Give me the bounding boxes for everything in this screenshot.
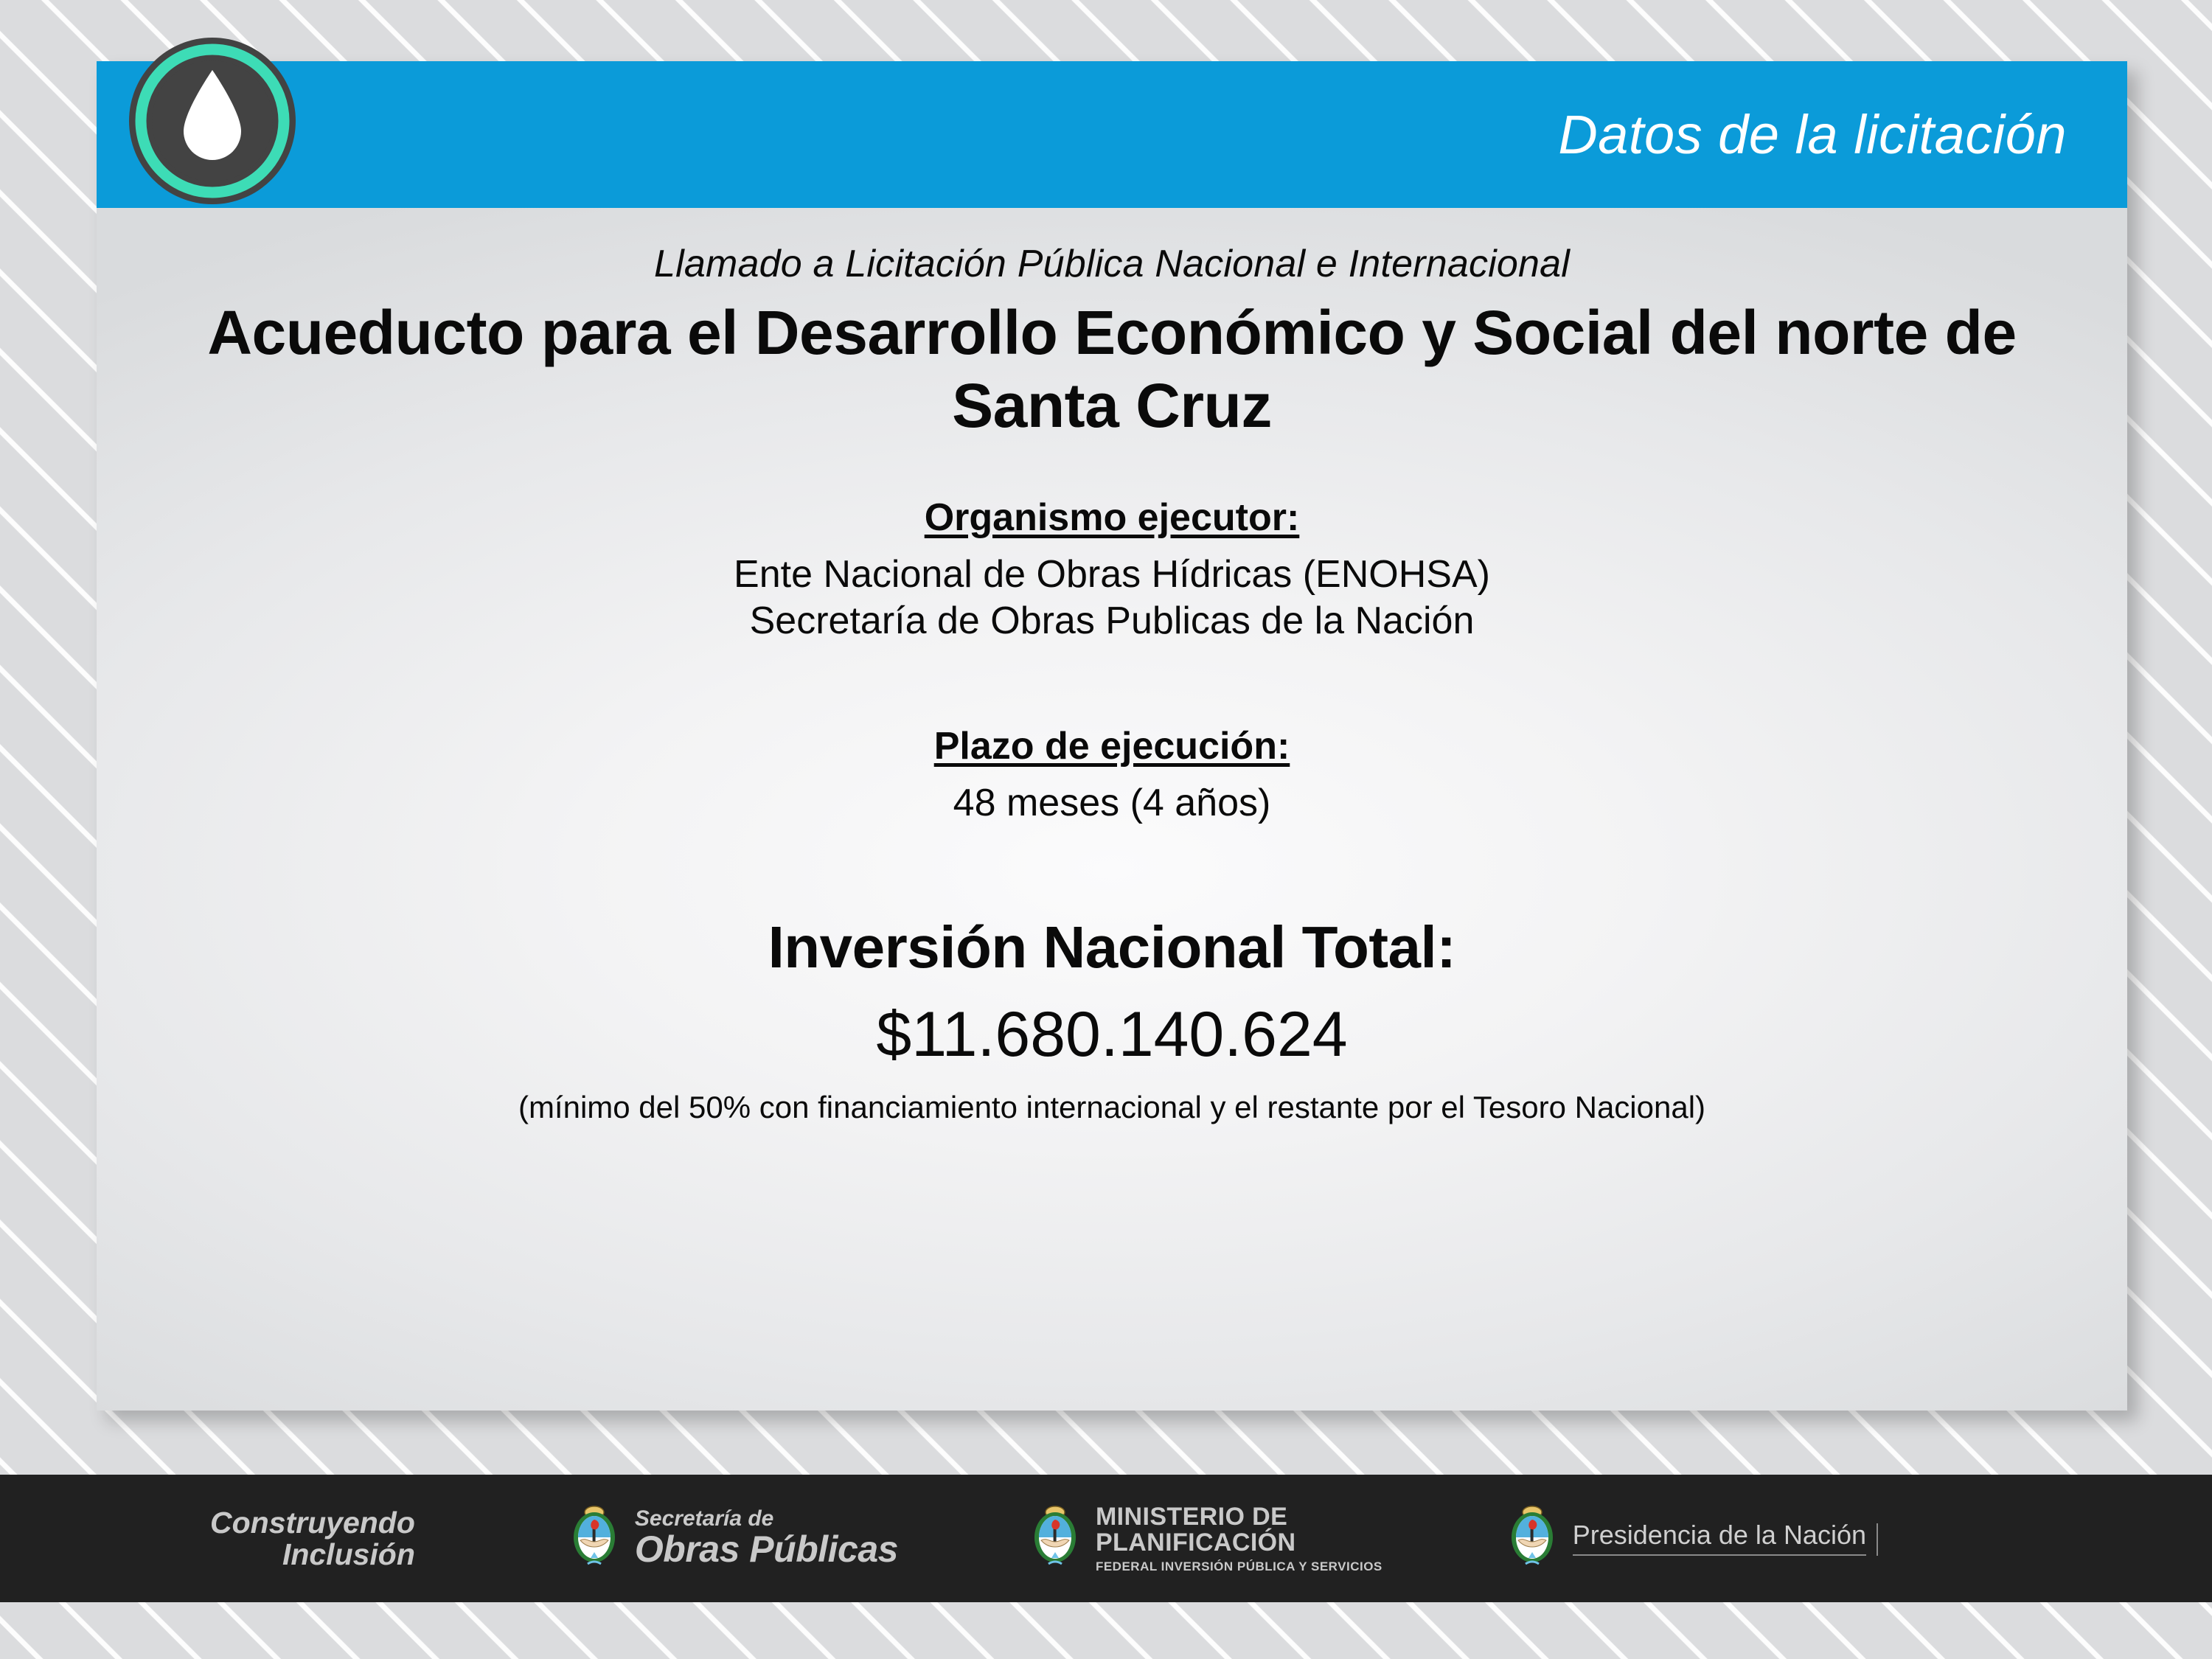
slide-subtitle: Llamado a Licitación Pública Nacional e … [97, 242, 2127, 286]
plazo-ejecucion-block: Plazo de ejecución: 48 meses (4 años) [97, 724, 2127, 827]
planificacion-line-2: PLANIFICACIÓN [1096, 1530, 1382, 1556]
construyendo-inclusion-logo: Construyendo Inclusión [210, 1475, 415, 1602]
slide-content-panel: Llamado a Licitación Pública Nacional e … [97, 208, 2127, 1411]
organismo-ejecutor-block: Organismo ejecutor: Ente Nacional de Obr… [97, 495, 2127, 645]
header-bar: Datos de la licitación [97, 61, 2127, 208]
argentina-coat-of-arms-icon [1508, 1502, 1557, 1576]
obras-line-1: Secretaría de [635, 1508, 898, 1531]
planificacion-line-1: MINISTERIO DE [1096, 1504, 1382, 1530]
presidencia-tick [1877, 1523, 1878, 1556]
ministerio-planificacion-logo: MINISTERIO DE PLANIFICACIÓN FEDERAL INVE… [1031, 1475, 1382, 1602]
plazo-line-1: 48 meses (4 años) [97, 780, 2127, 827]
planificacion-line-3: FEDERAL INVERSIÓN PÚBLICA Y SERVICIOS [1096, 1560, 1382, 1573]
presidencia-line-1: Presidencia de la Nación [1573, 1521, 1866, 1556]
obras-line-2: Obras Públicas [635, 1531, 898, 1569]
page-title: Acueducto para el Desarrollo Económico y… [185, 296, 2039, 442]
footer-bar: Construyendo Inclusión Secretaría de Obr… [0, 1475, 2212, 1602]
inversion-amount: $11.680.140.624 [97, 998, 2127, 1071]
organismo-heading: Organismo ejecutor: [97, 495, 2127, 540]
plazo-heading: Plazo de ejecución: [97, 724, 2127, 768]
header-title: Datos de la licitación [1558, 108, 2067, 162]
organismo-line-2: Secretaría de Obras Publicas de la Nació… [97, 598, 2127, 644]
secretaria-obras-publicas-logo: Secretaría de Obras Públicas [570, 1475, 898, 1602]
inversion-heading: Inversión Nacional Total: [97, 914, 2127, 981]
inversion-note: (mínimo del 50% con financiamiento inter… [126, 1090, 2098, 1125]
slide-panel: Llamado a Licitación Pública Nacional e … [97, 61, 2127, 1411]
argentina-coat-of-arms-icon [1031, 1502, 1079, 1576]
water-drop-icon [128, 36, 297, 206]
construyendo-line-2: Inclusión [210, 1539, 415, 1570]
construyendo-line-1: Construyendo [210, 1507, 415, 1538]
argentina-coat-of-arms-icon [570, 1502, 619, 1576]
organismo-line-1: Ente Nacional de Obras Hídricas (ENOHSA) [97, 552, 2127, 598]
presidencia-nacion-logo: Presidencia de la Nación [1508, 1475, 1878, 1602]
